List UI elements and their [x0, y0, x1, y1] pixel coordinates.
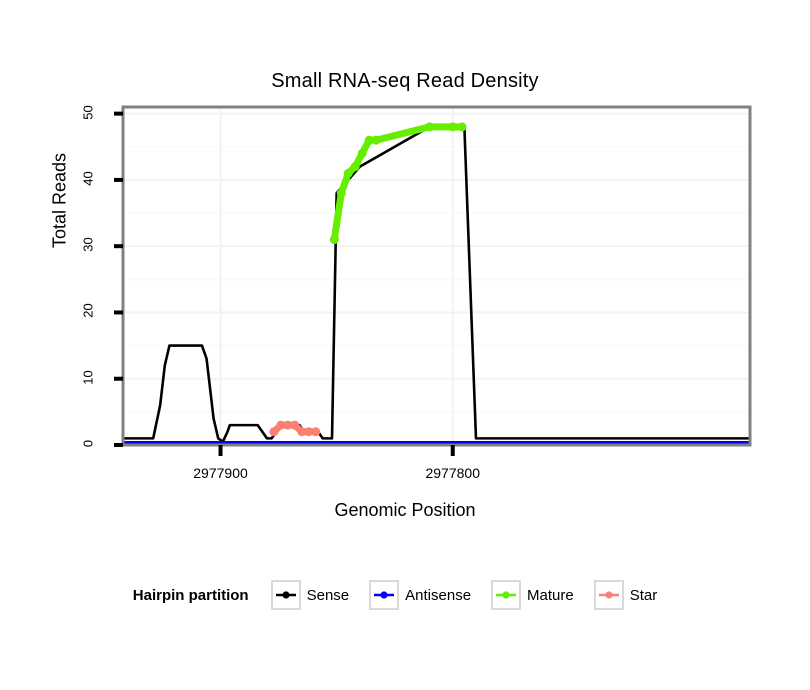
chart-title: Small RNA-seq Read Density	[0, 70, 810, 93]
legend-label: Sense	[307, 587, 350, 604]
chart-legend: Hairpin partition SenseAntisenseMatureSt…	[0, 580, 810, 610]
legend-key-icon	[369, 580, 399, 610]
legend-items: SenseAntisenseMatureStar	[271, 580, 678, 610]
plot-panel	[123, 107, 750, 445]
x-axis-title: Genomic Position	[0, 500, 810, 521]
legend-key-icon	[491, 580, 521, 610]
y-tick-label: 20	[81, 291, 96, 331]
legend-key-icon	[271, 580, 301, 610]
legend-item-sense[interactable]: Sense	[271, 580, 364, 610]
legend-label: Mature	[527, 587, 574, 604]
y-tick-label: 40	[81, 158, 96, 198]
y-tick-label: 0	[81, 424, 96, 464]
legend-key-icon	[594, 580, 624, 610]
legend-item-mature[interactable]: Mature	[491, 580, 588, 610]
legend-label: Star	[630, 587, 658, 604]
legend-label: Antisense	[405, 587, 471, 604]
y-tick-label: 30	[81, 225, 96, 265]
y-tick-label: 10	[81, 357, 96, 397]
legend-title: Hairpin partition	[133, 587, 249, 604]
y-tick-label: 50	[81, 92, 96, 132]
y-axis-title: Total Reads	[50, 101, 71, 301]
x-tick-label: 2977900	[161, 465, 281, 481]
legend-item-star[interactable]: Star	[594, 580, 672, 610]
legend-item-antisense[interactable]: Antisense	[369, 580, 485, 610]
x-tick-label: 2977800	[393, 465, 513, 481]
chart-figure: Small RNA-seq Read Density Total Reads G…	[0, 0, 810, 690]
